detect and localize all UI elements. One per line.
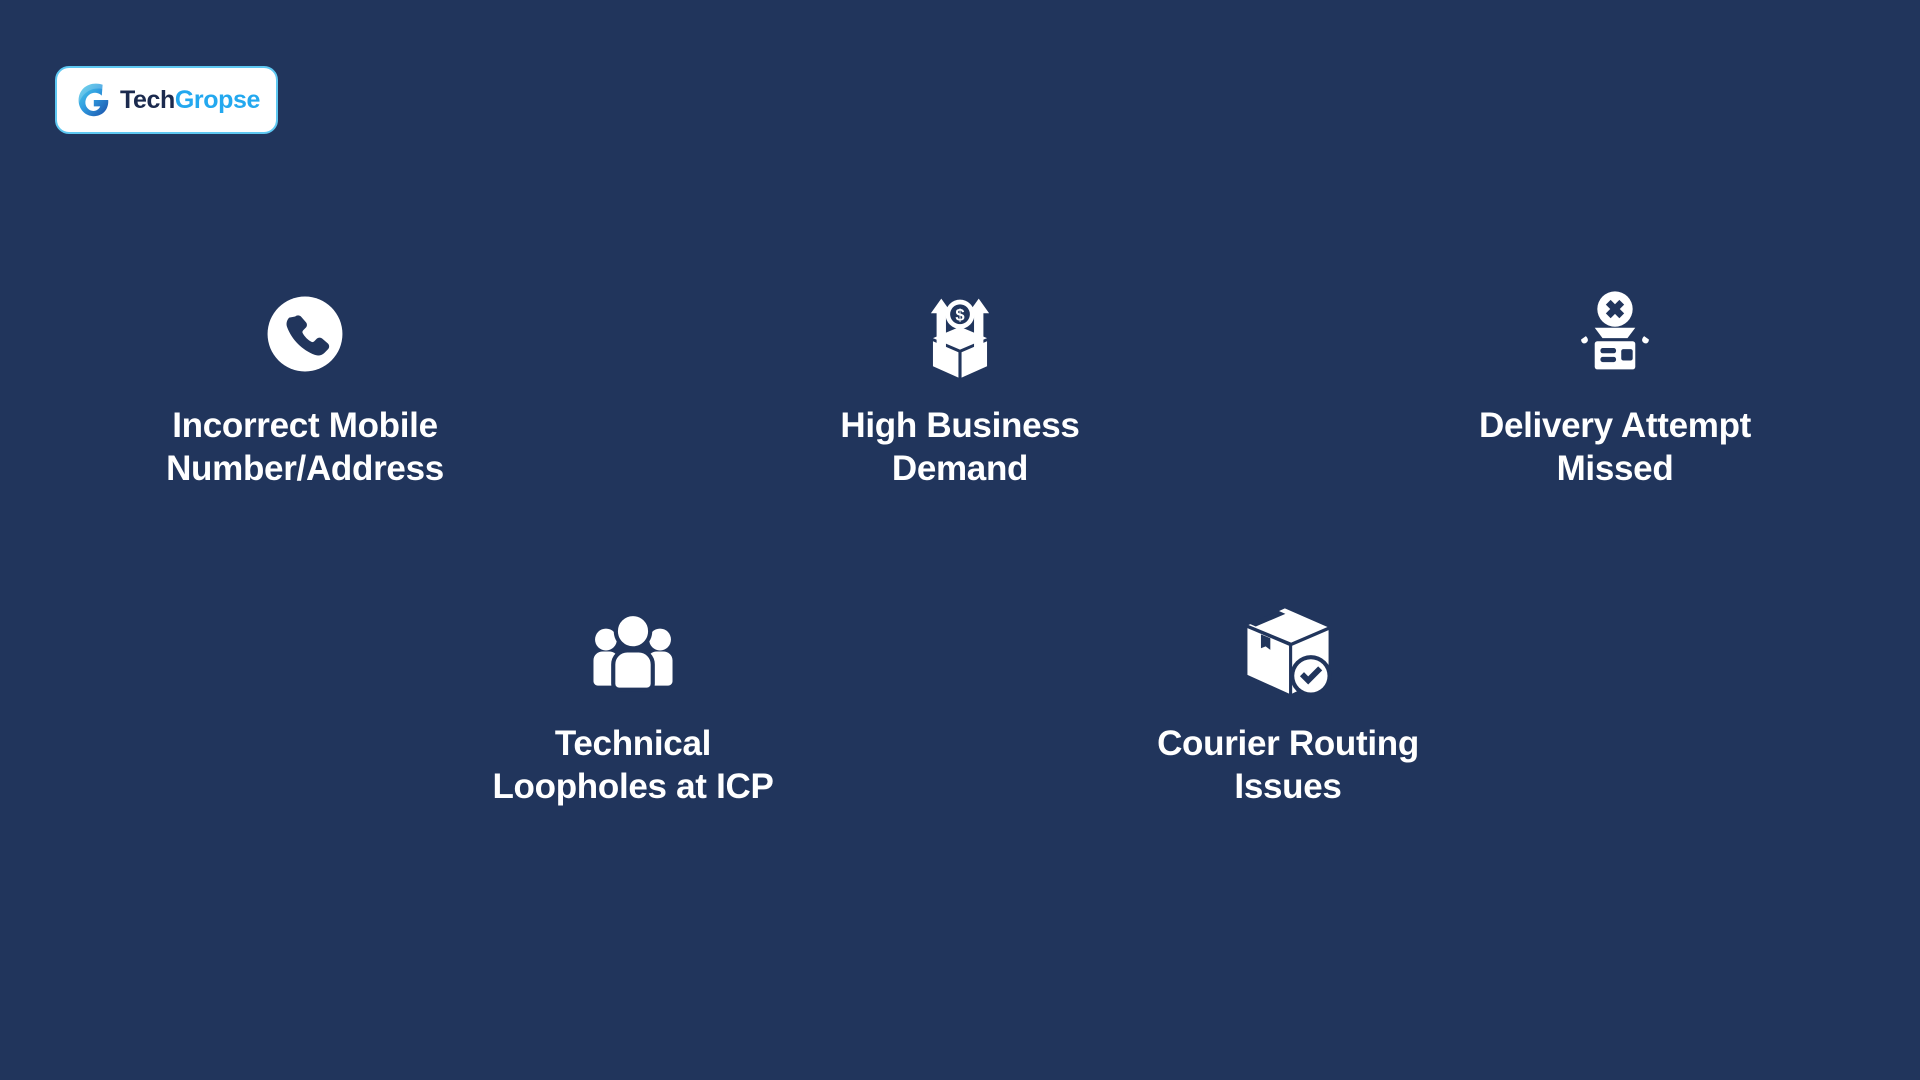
people-group-icon xyxy=(581,600,685,704)
feature-item-incorrect-mobile[interactable]: Incorrect Mobile Number/Address xyxy=(95,282,515,491)
feature-label: Technical Loopholes at ICP xyxy=(492,722,773,809)
feature-label: Incorrect Mobile Number/Address xyxy=(166,404,444,491)
feature-label: Courier Routing Issues xyxy=(1157,722,1419,809)
svg-text:$: $ xyxy=(955,306,965,325)
feature-item-delivery-attempt-missed[interactable]: Delivery Attempt Missed xyxy=(1405,282,1825,491)
feature-item-high-business-demand[interactable]: $ High Business Demand xyxy=(750,282,1170,491)
package-check-icon xyxy=(1236,600,1340,704)
feature-item-technical-loopholes[interactable]: Technical Loopholes at ICP xyxy=(423,600,843,809)
feature-label: High Business Demand xyxy=(840,404,1079,491)
phone-circle-icon xyxy=(253,282,357,386)
delivery-failed-box-icon xyxy=(1563,282,1667,386)
feature-grid: Incorrect Mobile Number/Address $ Hig xyxy=(0,0,1920,1080)
box-growth-dollar-icon: $ xyxy=(908,282,1012,386)
feature-item-courier-routing-issues[interactable]: Courier Routing Issues xyxy=(1078,600,1498,809)
feature-label: Delivery Attempt Missed xyxy=(1479,404,1751,491)
